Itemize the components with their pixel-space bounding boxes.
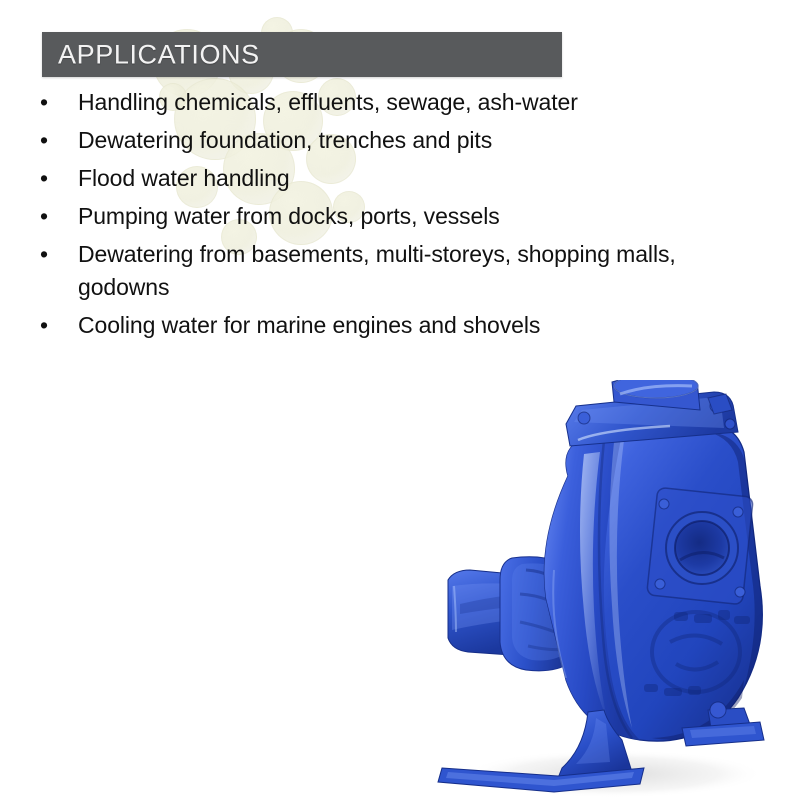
pump-illustration: [408, 380, 800, 800]
list-item: • Dewatering from basements, multi-store…: [34, 238, 694, 304]
page-title: APPLICATIONS: [58, 41, 260, 68]
bullet-icon: •: [34, 162, 78, 195]
list-item-label: Cooling water for marine engines and sho…: [78, 309, 694, 342]
list-item-label: Flood water handling: [78, 162, 694, 195]
bullet-icon: •: [34, 238, 78, 271]
list-item-label: Dewatering from basements, multi-storeys…: [78, 238, 694, 304]
list-item: • Pumping water from docks, ports, vesse…: [34, 200, 694, 233]
list-item-label: Pumping water from docks, ports, vessels: [78, 200, 694, 233]
bullet-icon: •: [34, 124, 78, 157]
list-item-label: Dewatering foundation, trenches and pits: [78, 124, 694, 157]
inspection-port: [647, 487, 754, 604]
bullet-icon: •: [34, 309, 78, 342]
list-item-label: Handling chemicals, effluents, sewage, a…: [78, 86, 694, 119]
application-slide: APPLICATIONS • Handling chemicals, efflu…: [0, 0, 800, 800]
applications-header-bar: APPLICATIONS: [42, 32, 562, 77]
list-item: • Dewatering foundation, trenches and pi…: [34, 124, 694, 157]
bullet-icon: •: [34, 200, 78, 233]
list-item: • Cooling water for marine engines and s…: [34, 309, 694, 342]
list-item: • Handling chemicals, effluents, sewage,…: [34, 86, 694, 119]
applications-list: • Handling chemicals, effluents, sewage,…: [34, 86, 694, 347]
pump-casing: [544, 426, 762, 741]
pump-product-image: [408, 380, 800, 800]
list-item: • Flood water handling: [34, 162, 694, 195]
bullet-icon: •: [34, 86, 78, 119]
